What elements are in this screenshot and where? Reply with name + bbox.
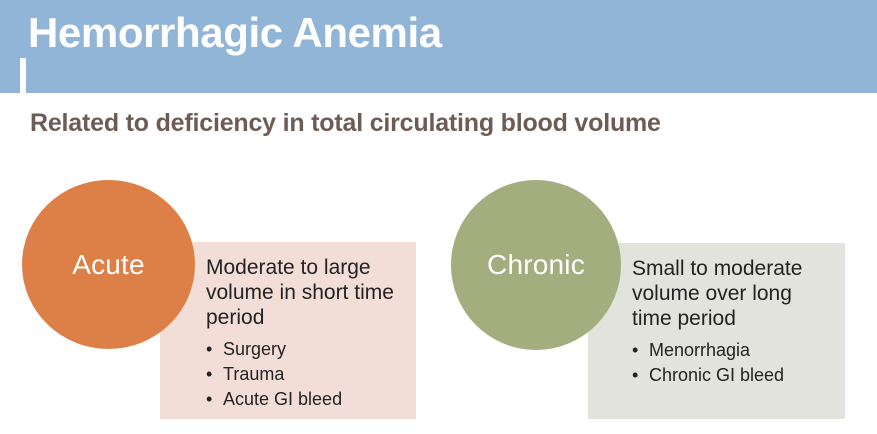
list-item-label: Trauma: [223, 364, 284, 384]
acute-detail-box: Moderate to large volume in short time p…: [160, 242, 416, 419]
page-subtitle: Related to deficiency in total circulati…: [30, 109, 661, 138]
list-item: • Trauma: [206, 362, 342, 387]
chronic-cause-list: • Menorrhagia • Chronic GI bleed: [632, 338, 784, 388]
chronic-heading: Small to moderate volume over long time …: [632, 256, 832, 331]
bullet-icon: •: [632, 338, 638, 363]
bullet-icon: •: [206, 337, 212, 362]
list-item-label: Surgery: [223, 339, 286, 359]
acute-circle-label: Acute: [72, 251, 145, 279]
chronic-detail-box: Small to moderate volume over long time …: [588, 243, 845, 419]
chronic-circle: Chronic: [451, 180, 621, 350]
list-item-label: Chronic GI bleed: [649, 365, 784, 385]
bullet-icon: •: [632, 363, 638, 388]
bullet-icon: •: [206, 362, 212, 387]
slide-canvas: Hemorrhagic Anemia Related to deficiency…: [0, 0, 877, 434]
list-item-label: Menorrhagia: [649, 340, 750, 360]
bullet-icon: •: [206, 387, 212, 412]
acute-circle: Acute: [22, 180, 195, 349]
list-item: • Acute GI bleed: [206, 387, 342, 412]
list-item: • Surgery: [206, 337, 342, 362]
chronic-circle-label: Chronic: [487, 251, 585, 279]
acute-heading: Moderate to large volume in short time p…: [206, 255, 406, 330]
list-item-label: Acute GI bleed: [223, 389, 342, 409]
list-item: • Chronic GI bleed: [632, 363, 784, 388]
header-accent-notch: [20, 58, 26, 93]
page-title: Hemorrhagic Anemia: [28, 9, 442, 57]
list-item: • Menorrhagia: [632, 338, 784, 363]
acute-cause-list: • Surgery • Trauma • Acute GI bleed: [206, 337, 342, 412]
